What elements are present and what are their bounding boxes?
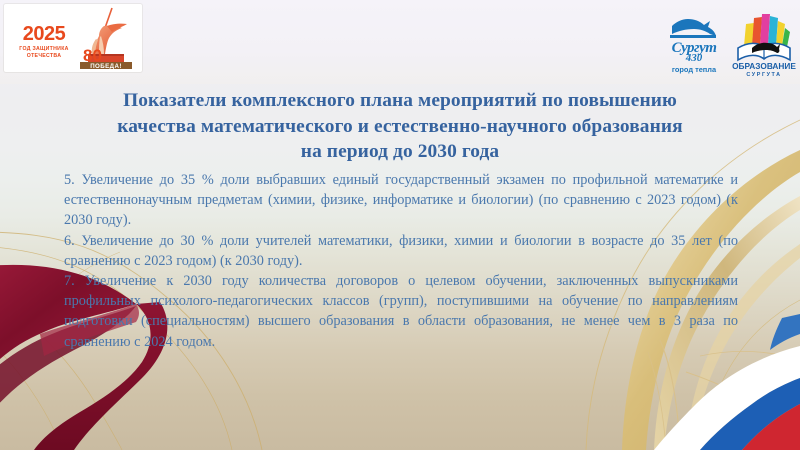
logo-education-of-surgut: ОБРАЗОВАНИЕ СУРГУТА	[730, 4, 798, 78]
body-paragraph-5: 5. Увеличение до 35 % доли выбравших еди…	[64, 170, 738, 231]
slide-title-line-3: на период до 2030 года	[40, 139, 760, 165]
logo-2025-subtitle-line1: ГОД ЗАЩИТНИКА	[10, 46, 78, 53]
logo-surgut-430: Сургут 430 город тепла	[660, 6, 728, 76]
svg-text:СУРГУТА: СУРГУТА	[746, 72, 781, 78]
svg-text:430: 430	[685, 52, 703, 64]
svg-text:ОБРАЗОВАНИЕ: ОБРАЗОВАНИЕ	[732, 61, 796, 71]
logo-2025-subtitle-line2: ОТЕЧЕСТВА	[10, 53, 78, 60]
body-paragraph-6: 6. Увеличение до 30 % доли учителей мате…	[64, 231, 738, 271]
motherland-calls-statue-icon: 80 ПОБЕДА!	[74, 6, 140, 70]
education-surgut-book-icon: ОБРАЗОВАНИЕ СУРГУТА	[730, 4, 798, 78]
slide-title-line-1: Показатели комплексного плана мероприяти…	[40, 88, 760, 114]
slide-canvas: 2025 ГОД ЗАЩИТНИКА ОТЕЧЕСТВА	[0, 0, 800, 450]
surgut-city-of-warmth-icon: Сургут 430 город тепла	[660, 6, 728, 76]
body-paragraph-7: 7. Увеличение к 2030 году количества дог…	[64, 271, 738, 352]
logo-2025-year: 2025	[10, 24, 78, 44]
slide-title-line-2: качества математического и естественно-н…	[40, 114, 760, 140]
svg-text:ПОБЕДА!: ПОБЕДА!	[90, 63, 122, 70]
logo-2025-text-block: 2025 ГОД ЗАЩИТНИКА ОТЕЧЕСТВА	[10, 24, 78, 59]
logo-2025-defender-of-fatherland: 2025 ГОД ЗАЩИТНИКА ОТЕЧЕСТВА	[4, 4, 142, 72]
logo-2025-motherland-emblem: 80 ПОБЕДА!	[74, 6, 140, 70]
slide-title: Показатели комплексного плана мероприяти…	[40, 88, 760, 165]
slide-body: 5. Увеличение до 35 % доли выбравших еди…	[64, 170, 738, 352]
svg-text:город тепла: город тепла	[672, 65, 717, 74]
